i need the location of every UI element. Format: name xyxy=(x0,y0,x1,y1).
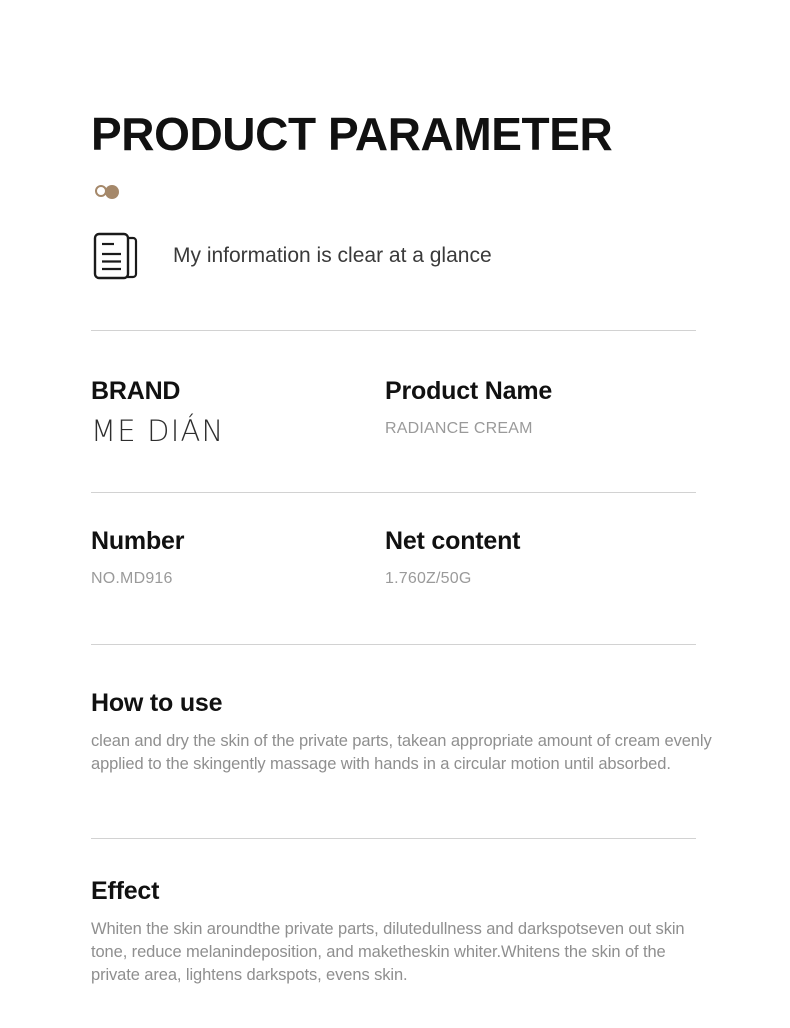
section-effect: Effect Whiten the skin aroundthe private… xyxy=(91,876,716,987)
spec-label-product-name: Product Name xyxy=(385,376,552,406)
spec-value-product-name: RADIANCE CREAM xyxy=(385,418,552,440)
spec-label-number: Number xyxy=(91,526,184,556)
section-body-how-to-use: clean and dry the skin of the private pa… xyxy=(91,730,716,776)
spec-net-content: Net content 1.760Z/50G xyxy=(385,526,520,590)
spec-label-net-content: Net content xyxy=(385,526,520,556)
subtitle-row: My information is clear at a glance xyxy=(91,228,492,284)
divider-1 xyxy=(91,330,696,331)
divider-2 xyxy=(91,492,696,493)
spec-product-name: Product Name RADIANCE CREAM xyxy=(385,376,552,440)
spec-brand: BRAND ME DIÁN xyxy=(91,376,224,448)
decorative-dots xyxy=(95,183,155,205)
divider-4 xyxy=(91,838,696,839)
subtitle-text: My information is clear at a glance xyxy=(173,243,492,269)
spec-value-net-content: 1.760Z/50G xyxy=(385,568,520,590)
divider-3 xyxy=(91,644,696,645)
section-title-effect: Effect xyxy=(91,876,716,906)
section-body-effect: Whiten the skin aroundthe private parts,… xyxy=(91,918,716,987)
spec-value-brand: ME DIÁN xyxy=(91,414,224,448)
section-body-text: clean and dry the skin of the private pa… xyxy=(91,730,716,776)
spec-label-brand: BRAND xyxy=(91,376,224,406)
section-title-how-to-use: How to use xyxy=(91,688,716,718)
section-how-to-use: How to use clean and dry the skin of the… xyxy=(91,688,716,776)
document-icon xyxy=(91,230,141,282)
page-title: PRODUCT PARAMETER xyxy=(91,108,612,160)
spec-number: Number NO.MD916 xyxy=(91,526,184,590)
section-body-text: Whiten the skin aroundthe private parts,… xyxy=(91,918,716,987)
solid-circle-icon xyxy=(105,185,119,199)
spec-value-number: NO.MD916 xyxy=(91,568,184,590)
product-parameter-page: PRODUCT PARAMETER My information is clea… xyxy=(0,0,790,1028)
